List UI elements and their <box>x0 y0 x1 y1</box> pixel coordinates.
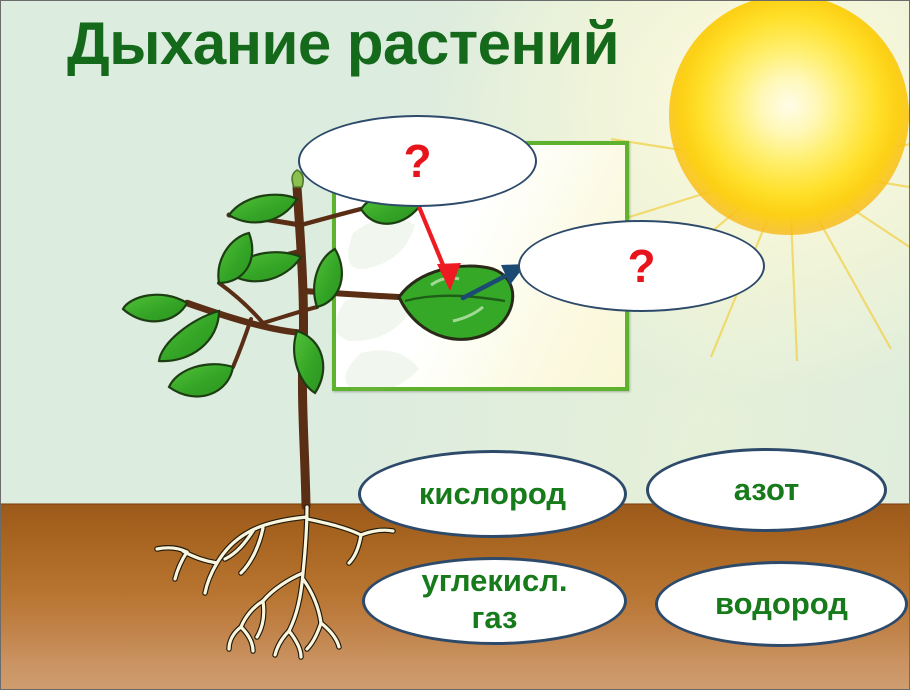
answer-option-nitrogen[interactable]: азот <box>646 448 887 532</box>
question-bubble-gas-out[interactable]: ? <box>518 220 765 312</box>
answer-label-line1: углекисл. <box>421 563 567 598</box>
question-mark-icon: ? <box>403 138 431 184</box>
question-mark-icon: ? <box>627 243 655 289</box>
answer-label: углекисл. газ <box>421 563 567 636</box>
answer-label-line2: газ <box>421 600 567 637</box>
answer-label: кислород <box>419 476 566 513</box>
answer-option-oxygen[interactable]: кислород <box>358 450 627 538</box>
question-bubble-gas-in[interactable]: ? <box>298 115 537 207</box>
page-title: Дыхание растений <box>67 9 619 78</box>
magnified-leaf <box>399 266 513 339</box>
plant-roots <box>157 507 393 657</box>
answer-label: азот <box>734 472 800 509</box>
answer-option-carbon-dioxide[interactable]: углекисл. газ <box>362 557 627 645</box>
slide-root: Дыхание растений ? ? кислород азот углек… <box>0 0 910 690</box>
answer-option-hydrogen[interactable]: водород <box>655 561 908 647</box>
answer-label: водород <box>715 586 848 623</box>
